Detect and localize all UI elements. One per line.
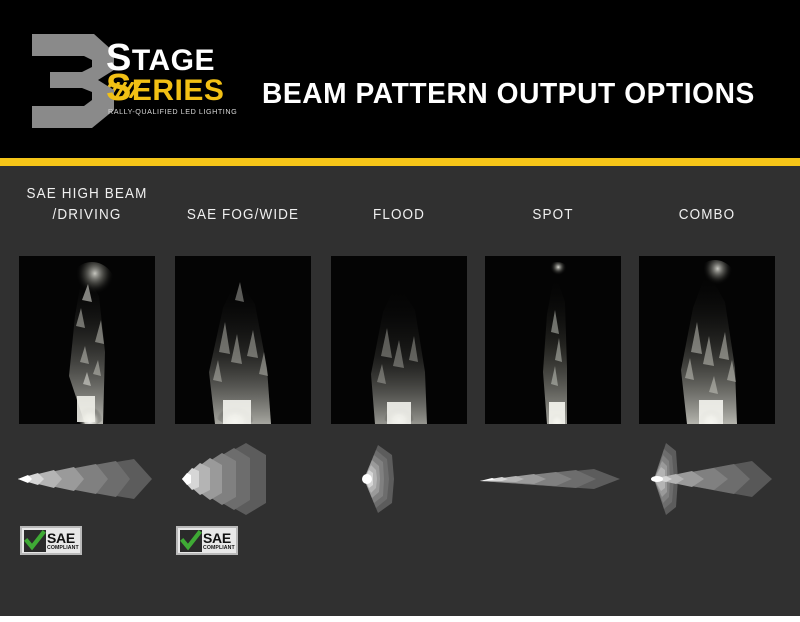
bottom-edge (0, 616, 800, 622)
sae-badge-main: SAE (203, 531, 235, 545)
beam-diagram-combo (632, 441, 782, 516)
column-flood: FLOOD (324, 166, 474, 616)
logo-series-rest: ERIES (132, 74, 225, 107)
column-label-line1: COMBO (637, 205, 777, 226)
beam-diagram-spot (478, 441, 628, 516)
logo-tagline: RALLY-QUALIFIED LED LIGHTING (106, 107, 246, 116)
column-sae-fog-wide: SAE FOG/WIDE (168, 166, 318, 616)
beam-diagram-sae-fog-wide (168, 441, 318, 516)
sae-badge-text: SAE COMPLIANT (46, 530, 79, 551)
column-label-line1: SPOT (483, 205, 623, 226)
column-label: SPOT (483, 205, 623, 226)
beam-diagram-flood (324, 441, 474, 516)
brand-logo: STAGE SERIES RALLY-QUALIFIED LED LIGHTIN… (28, 28, 238, 133)
beam-photo-combo (639, 256, 775, 424)
beam-photo-spot (485, 256, 621, 424)
beam-pattern-infographic: STAGE SERIES RALLY-QUALIFIED LED LIGHTIN… (0, 0, 800, 622)
sae-badge-sub: COMPLIANT (203, 546, 235, 551)
column-label: SAE FOG/WIDE (173, 205, 313, 226)
sae-badge-sub: COMPLIANT (47, 546, 79, 551)
column-label-line2: /DRIVING (17, 205, 157, 226)
logo-series-word: SERIES (106, 73, 246, 106)
header-bar: STAGE SERIES RALLY-QUALIFIED LED LIGHTIN… (0, 0, 800, 158)
column-spot: SPOT (478, 166, 628, 616)
beam-photo-sae-fog-wide (175, 256, 311, 424)
content-area: SAE HIGH BEAM /DRIVING (0, 166, 800, 616)
column-label: FLOOD (329, 205, 469, 226)
yellow-divider (0, 158, 800, 166)
sae-badge-main: SAE (47, 531, 79, 545)
logo-series-cap: S (106, 67, 132, 109)
column-label: SAE HIGH BEAM /DRIVING (17, 184, 157, 226)
page-title: BEAM PATTERN OUTPUT OPTIONS (262, 78, 766, 111)
column-label-line1: FLOOD (329, 205, 469, 226)
column-label-line1: SAE FOG/WIDE (173, 205, 313, 226)
check-icon (24, 530, 46, 552)
sae-compliant-badge: SAE COMPLIANT (176, 526, 238, 555)
beam-photo-flood (331, 256, 467, 424)
logo-wordmark: STAGE SERIES RALLY-QUALIFIED LED LIGHTIN… (106, 44, 246, 116)
beam-diagram-sae-high-beam-driving (12, 441, 162, 516)
column-sae-high-beam-driving: SAE HIGH BEAM /DRIVING (12, 166, 162, 616)
sae-compliant-badge: SAE COMPLIANT (20, 526, 82, 555)
check-icon (180, 530, 202, 552)
column-label: COMBO (637, 205, 777, 226)
sae-badge-text: SAE COMPLIANT (202, 530, 235, 551)
column-label-line1: SAE HIGH BEAM (17, 184, 157, 205)
column-combo: COMBO (632, 166, 782, 616)
beam-photo-sae-high-beam-driving (19, 256, 155, 424)
